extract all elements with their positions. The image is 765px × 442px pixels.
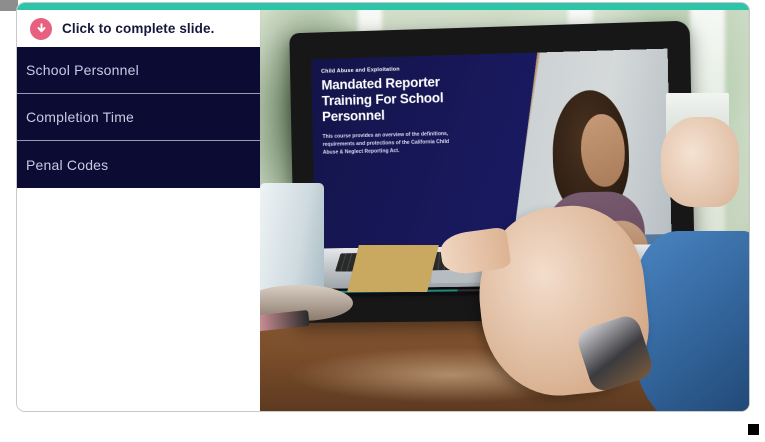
menu-item-label: School Personnel <box>26 62 139 78</box>
slide-title: Mandated Reporter Training For School Pe… <box>322 73 471 125</box>
second-hand <box>661 117 739 207</box>
menu-item-school-personnel[interactable]: School Personnel <box>17 47 260 94</box>
course-hero-image: Child Abuse and Exploitation Mandated Re… <box>260 3 749 411</box>
menu-item-completion-time[interactable]: Completion Time <box>17 94 260 141</box>
menu-item-penal-codes[interactable]: Penal Codes <box>17 141 260 188</box>
slide-card: Click to complete slide. School Personne… <box>16 2 750 412</box>
click-to-complete-label: Click to complete slide. <box>62 21 214 36</box>
slide-body-text: This course provides an overview of the … <box>323 130 451 157</box>
coffee-mug <box>260 183 324 297</box>
chapter-menu: School Personnel Completion Time Penal C… <box>17 47 260 188</box>
blue-sleeve <box>632 231 749 411</box>
menu-item-label: Penal Codes <box>26 157 108 173</box>
paper-card-on-desk <box>348 245 440 292</box>
left-pane: Click to complete slide. School Personne… <box>17 3 260 411</box>
left-pane-empty-area <box>17 188 260 358</box>
menu-item-label: Completion Time <box>26 109 134 125</box>
corner-marker <box>748 424 759 435</box>
arrow-down-circle-icon <box>30 18 52 40</box>
click-to-complete-banner[interactable]: Click to complete slide. <box>17 3 260 47</box>
